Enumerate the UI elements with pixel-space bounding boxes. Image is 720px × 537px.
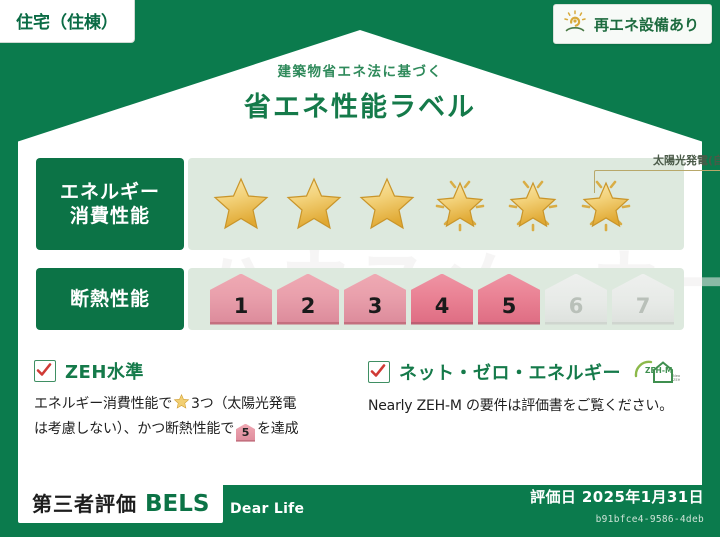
third-party-evaluation-badge: 第三者評価 BELS — [18, 483, 223, 523]
grade-badge: 4 — [411, 274, 473, 325]
grade-badge: 5 — [478, 274, 540, 325]
energy-stars-band: 太陽光発電(自家消費)分 — [188, 158, 684, 250]
criteria-sections: ZEH水準 エネルギー消費性能で 3つ（太陽光発電 は考慮しない）、かつ断熱性能… — [34, 358, 686, 442]
zeh-m-logo-icon: ZEH-M Nearly ZEH-M — [634, 358, 680, 386]
checkbox-checked-icon — [368, 361, 390, 383]
page-title: 省エネ性能ラベル — [0, 85, 720, 124]
star-icon-inline — [173, 393, 190, 418]
star-icon-solar — [429, 173, 491, 235]
insulation-grades-band: 1 2 3 4 5 6 7 — [188, 268, 684, 330]
net-zero-header: ネット・ゼロ・エネルギー ZEH-M Nearly ZEH-M — [368, 358, 686, 386]
zeh-body-star-count: 3つ（太陽光発電 — [191, 396, 296, 412]
star-icon — [356, 173, 418, 235]
building-type-tab: 住宅（住棟） — [0, 0, 135, 43]
title-subtitle: 建築物省エネ法に基づく — [0, 60, 720, 80]
net-zero-title: ネット・ゼロ・エネルギー — [399, 359, 621, 385]
star-icon — [283, 173, 345, 235]
document-id: b91bfce4-9586-4deb — [596, 514, 704, 525]
brand-name: Dear Life — [230, 501, 304, 517]
zeh-body-part3: を達成 — [257, 421, 298, 437]
energy-performance-row: エネルギー 消費性能 太陽光発電(自家消費)分 — [36, 158, 684, 250]
solar-caption: 太陽光発電(自家消費)分 — [588, 152, 720, 168]
net-zero-energy-section: ネット・ゼロ・エネルギー ZEH-M Nearly ZEH-M Nearly Z… — [368, 358, 686, 442]
insulation-performance-row: 断熱性能 1 2 3 4 5 6 7 — [36, 268, 684, 330]
zeh-standard-title: ZEH水準 — [65, 358, 144, 384]
star-icon — [210, 173, 272, 235]
third-party-label: 第三者評価 — [32, 488, 137, 517]
zeh-body-part2: は考慮しない）、かつ断熱性能で — [34, 421, 234, 437]
energy-performance-label: エネルギー 消費性能 — [36, 158, 184, 250]
star-icon-solar — [575, 173, 637, 235]
energy-label-line2: 消費性能 — [70, 204, 150, 228]
energy-label-line1: エネルギー — [60, 180, 160, 204]
svg-text:ZEH-M: ZEH-M — [673, 378, 680, 382]
insulation-performance-label: 断熱性能 — [36, 268, 184, 330]
svg-text:ZEH-M: ZEH-M — [645, 366, 672, 375]
star-rating — [188, 173, 637, 235]
zeh-standard-body: エネルギー消費性能で 3つ（太陽光発電 は考慮しない）、かつ断熱性能で5を達成 — [34, 393, 352, 442]
grade-badge: 2 — [277, 274, 339, 325]
zeh-body-part1: エネルギー消費性能で — [34, 396, 172, 412]
grade-badge: 1 — [210, 274, 272, 325]
grade-badge: 6 — [545, 274, 607, 325]
grade-badge: 3 — [344, 274, 406, 325]
zeh-standard-header: ZEH水準 — [34, 358, 352, 384]
evaluation-date: 評価日 2025年1月31日 — [530, 486, 704, 507]
title-block: 建築物省エネ法に基づく 省エネ性能ラベル — [0, 60, 720, 124]
grade-badge-inline: 5 — [236, 424, 255, 442]
grade-scale: 1 2 3 4 5 6 7 — [188, 274, 674, 325]
renewable-badge-label: 再エネ設備あり — [594, 14, 699, 35]
checkbox-checked-icon — [34, 360, 56, 382]
sun-icon — [562, 10, 588, 38]
bels-energy-label: ハウスメーカー 住宅（住棟） 再エネ設備あり 建築物省エネ法に基づく 省エネ性能… — [0, 0, 720, 537]
net-zero-body: Nearly ZEH-M の要件は評価書をご覧ください。 — [368, 395, 686, 418]
bels-label: BELS — [145, 491, 209, 517]
grade-badge: 7 — [612, 274, 674, 325]
star-icon-solar — [502, 173, 564, 235]
zeh-standard-section: ZEH水準 エネルギー消費性能で 3つ（太陽光発電 は考慮しない）、かつ断熱性能… — [34, 358, 352, 442]
renewable-equipment-badge: 再エネ設備あり — [553, 4, 712, 44]
